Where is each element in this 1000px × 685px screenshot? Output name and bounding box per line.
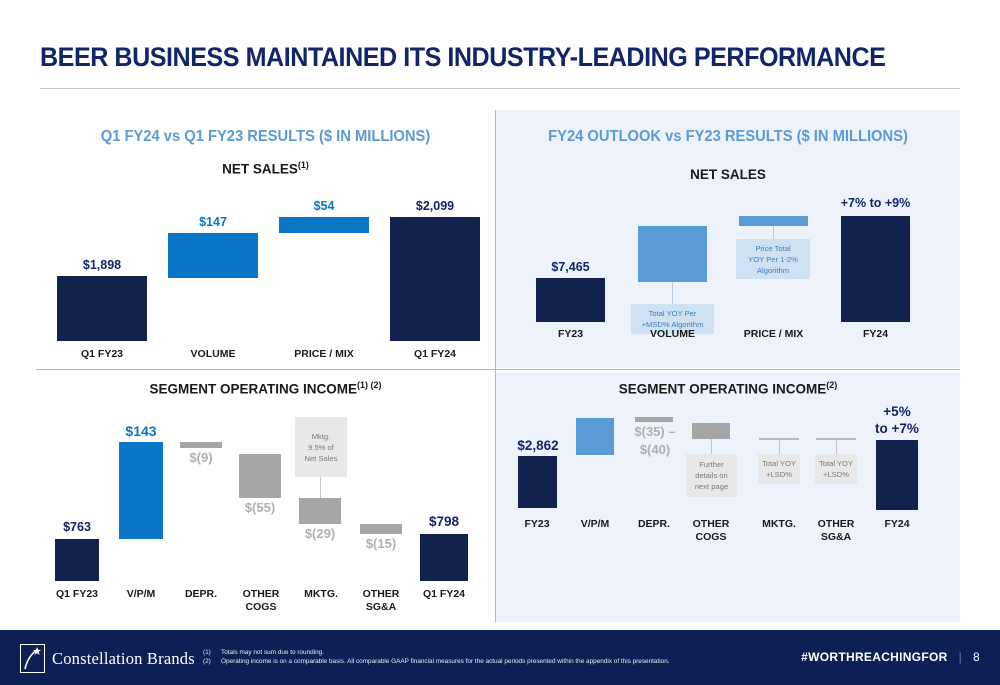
bar-volume xyxy=(638,226,707,282)
footnote-2-number: (2) xyxy=(203,657,216,666)
category-label-depr: DEPR. xyxy=(174,588,228,601)
category-label-q1fy24: Q1 FY24 xyxy=(390,348,480,361)
category-label-price-mix: PRICE / MIX xyxy=(279,348,369,361)
value-label-depr: $(9) xyxy=(180,450,222,465)
hashtag-text: #WORTHREACHINGFOR xyxy=(801,650,947,664)
value-label-q1fy24: $2,099 xyxy=(390,199,480,213)
category-label-vpm: V/P/M xyxy=(569,518,621,531)
value-label-volume: $147 xyxy=(168,215,258,229)
page-title: BEER BUSINESS MAINTAINED ITS INDUSTRY-LE… xyxy=(40,42,885,73)
plot-net-sales-q1: $1,898 $147 $54 $2,099 Q1 FY23 VOLUME PR… xyxy=(36,110,495,368)
callout-other-sga: Total YOY +LSD% xyxy=(815,454,857,484)
constellation-star-icon xyxy=(20,644,45,673)
value-label-fy23: $2,862 xyxy=(510,438,566,453)
slide-canvas: BEER BUSINESS MAINTAINED ITS INDUSTRY-LE… xyxy=(0,0,1000,685)
connector-other-cogs xyxy=(711,439,712,454)
value-label-q1fy23: $1,898 xyxy=(57,258,147,272)
bar-price-mix xyxy=(739,216,808,226)
connector-volume xyxy=(672,282,673,304)
value-label-price-mix: $54 xyxy=(279,199,369,213)
footnote-2: (2) Operating income is on a comparable … xyxy=(203,657,803,666)
value-label-mktg: $(29) xyxy=(296,526,344,541)
value-label-fy23: $7,465 xyxy=(536,260,605,274)
category-label-fy23: FY23 xyxy=(536,328,605,341)
callout-mktg: Total YOY +LSD% xyxy=(758,454,800,484)
value-label-other-cogs: $(55) xyxy=(236,500,284,515)
category-label-line2: SG&A xyxy=(366,601,396,613)
bar-depr xyxy=(635,417,673,422)
category-label-mktg: MKTG. xyxy=(294,588,348,601)
connector-mktg xyxy=(779,440,780,454)
value-label-q1fy23: $763 xyxy=(55,520,99,534)
footnote-1-text: Totals may not sum due to rounding. xyxy=(221,648,324,657)
category-label-mktg: MKTG. xyxy=(753,518,805,531)
bar-vpm xyxy=(119,442,163,539)
connector-price-mix xyxy=(773,226,774,239)
category-label-line2: COGS xyxy=(246,601,277,613)
quadrant-soi-q1: SEGMENT OPERATING INCOME(1) (2) Mktg. 9.… xyxy=(36,372,495,622)
bar-vpm xyxy=(576,418,614,455)
category-label-line1: OTHER xyxy=(693,518,730,530)
bar-fy24 xyxy=(841,216,910,322)
bar-fy23 xyxy=(536,278,605,322)
quadrant-net-sales-fy24: FY24 OUTLOOK vs FY23 RESULTS ($ IN MILLI… xyxy=(496,110,960,368)
bar-q1fy23 xyxy=(55,539,99,581)
category-label-other-cogs: OTHER COGS xyxy=(234,588,288,614)
bar-q1fy24 xyxy=(390,217,480,341)
bar-mktg xyxy=(299,498,341,524)
footnote-2-text: Operating income is on a comparable basi… xyxy=(221,657,670,666)
category-label-q1fy23: Q1 FY23 xyxy=(50,588,104,601)
value-label-fy24-line2: to +7% xyxy=(871,421,923,436)
category-label-line1: OTHER xyxy=(363,588,400,600)
value-label-other-sga: $(15) xyxy=(357,536,405,551)
value-label-q1fy24: $798 xyxy=(420,514,468,529)
bar-other-sga xyxy=(360,524,402,534)
quadrant-soi-fy24: SEGMENT OPERATING INCOME(2) Further deta… xyxy=(496,372,960,622)
bar-q1fy23 xyxy=(57,276,147,341)
value-label-fy24: +7% to +9% xyxy=(824,196,927,210)
category-label-depr: DEPR. xyxy=(628,518,680,531)
star-swoosh-icon xyxy=(21,645,44,672)
category-label-q1fy23: Q1 FY23 xyxy=(57,348,147,361)
brand-logo: Constellation Brands xyxy=(20,644,195,673)
category-label-volume: VOLUME xyxy=(168,348,258,361)
category-label-vpm: V/P/M xyxy=(114,588,168,601)
category-label-other-sga: OTHER SG&A xyxy=(354,588,408,614)
footnote-1: (1) Totals may not sum due to rounding. xyxy=(203,648,803,657)
title-divider xyxy=(40,88,960,89)
category-label-volume: VOLUME xyxy=(631,328,714,341)
bar-other-cogs xyxy=(692,423,730,439)
footnote-1-number: (1) xyxy=(203,648,216,657)
value-label-fy24-line1: +5% xyxy=(871,404,923,419)
category-label-line2: COGS xyxy=(696,531,727,543)
page-number: 8 xyxy=(973,650,980,664)
footer-hashtag-group: #WORTHREACHINGFOR | 8 xyxy=(801,650,980,664)
bar-volume xyxy=(168,233,258,278)
category-label-line1: OTHER xyxy=(243,588,280,600)
callout-mktg: Mktg. 9.5% of Net Sales xyxy=(295,417,347,477)
bar-fy24 xyxy=(876,440,918,510)
bar-q1fy24 xyxy=(420,534,468,581)
callout-price-mix: Price Total YOY Per 1-2% Algorithm xyxy=(736,239,810,279)
category-label-other-cogs: OTHER COGS xyxy=(685,518,737,544)
category-label-fy24: FY24 xyxy=(841,328,910,341)
connector-other-sga xyxy=(836,440,837,454)
horizontal-divider xyxy=(36,369,960,370)
bar-depr xyxy=(180,442,222,448)
bar-fy23 xyxy=(518,456,557,508)
category-label-line1: OTHER xyxy=(818,518,855,530)
value-label-depr-line2: $(40) xyxy=(630,442,680,457)
bar-price-mix xyxy=(279,217,369,233)
category-label-q1fy24: Q1 FY24 xyxy=(417,588,471,601)
plot-net-sales-fy24: Total YOY Per +MSD% Algorithm Price Tota… xyxy=(496,110,960,368)
category-label-other-sga: OTHER SG&A xyxy=(810,518,862,544)
footnotes: (1) Totals may not sum due to rounding. … xyxy=(203,648,803,666)
quadrant-net-sales-q1: Q1 FY24 vs Q1 FY23 RESULTS ($ IN MILLION… xyxy=(36,110,495,368)
category-label-fy23: FY23 xyxy=(511,518,563,531)
category-label-fy24: FY24 xyxy=(871,518,923,531)
brand-name: Constellation Brands xyxy=(52,649,195,669)
plot-soi-q1: Mktg. 9.5% of Net Sales $763 $143 $(9) $… xyxy=(36,372,495,622)
callout-other-cogs: Further details on next page xyxy=(686,454,737,497)
hashtag-separator: | xyxy=(959,650,962,664)
category-label-price-mix: PRICE / MIX xyxy=(734,328,813,341)
value-label-vpm: $143 xyxy=(117,423,165,439)
plot-soi-fy24: Further details on next page Total YOY +… xyxy=(496,372,960,622)
connector-mktg xyxy=(320,477,321,498)
value-label-depr-line1: $(35) – xyxy=(630,424,680,439)
bar-other-cogs xyxy=(239,454,281,498)
category-label-line2: SG&A xyxy=(821,531,851,543)
